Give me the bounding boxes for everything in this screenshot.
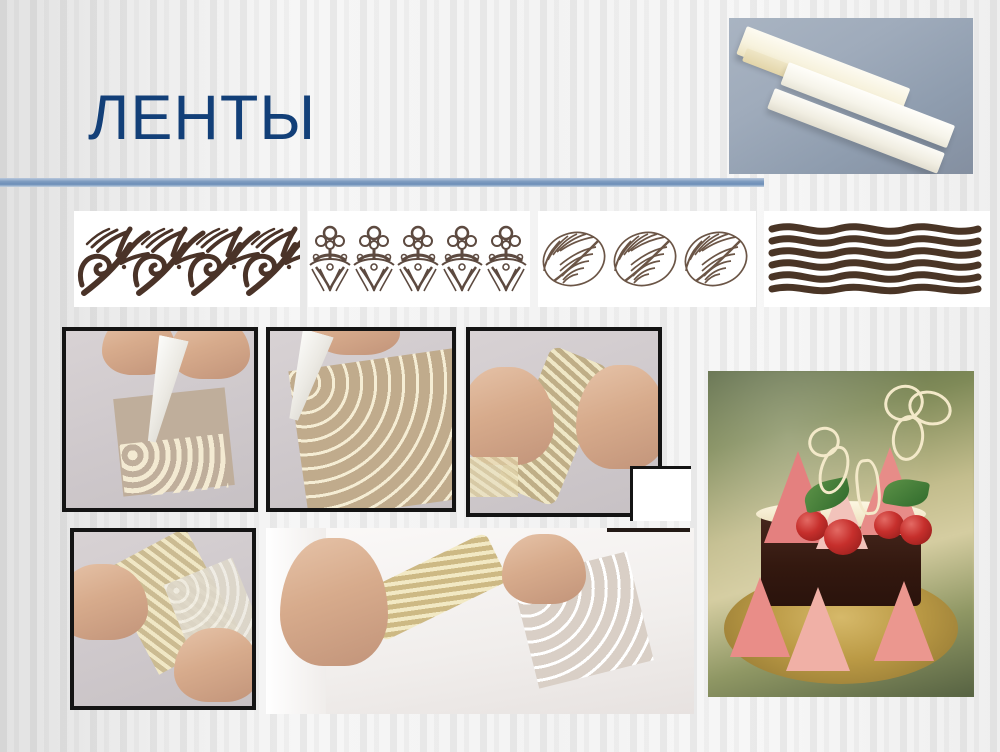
overlay-horizontal-rule (607, 528, 690, 532)
pattern-swirl-scroll-icon (74, 211, 300, 307)
white-chocolate-ribbon-sticks-photo (729, 18, 973, 174)
decorated-cake-photo (708, 371, 974, 697)
slide-canvas: ЛЕНТЫ (0, 0, 1000, 752)
marzipan-cherry-2 (824, 519, 862, 555)
pattern-wavy-stripes-icon (764, 211, 990, 307)
pattern-leaf-ovals (538, 211, 756, 307)
step-photo-1 (62, 327, 258, 512)
step-photo-4 (70, 528, 256, 710)
marbled-triangle-front-right (874, 581, 934, 661)
pattern-swirl-scroll (74, 211, 300, 307)
pattern-leaf-ovals-icon (538, 211, 756, 307)
hand-right (576, 365, 662, 469)
marbled-triangle-front-center (786, 587, 850, 671)
title-divider (0, 178, 764, 187)
step-photo-5 (266, 528, 694, 714)
marzipan-cherry-3 (874, 511, 904, 539)
step-photo-2 (266, 327, 456, 512)
piped-lace (119, 434, 228, 499)
hand-right (502, 534, 586, 604)
pattern-lace-filigree-icon (308, 211, 530, 307)
hand-left (280, 538, 388, 666)
pattern-lace-filigree (308, 211, 530, 307)
pattern-wavy-stripes (764, 211, 990, 307)
overlay-white-box (630, 466, 691, 521)
page-title: ЛЕНТЫ (88, 84, 316, 152)
marzipan-cherry-4 (900, 515, 932, 545)
marbled-triangle-front-left (730, 577, 790, 657)
hand-right (174, 628, 256, 702)
lace-sheet (470, 457, 518, 497)
